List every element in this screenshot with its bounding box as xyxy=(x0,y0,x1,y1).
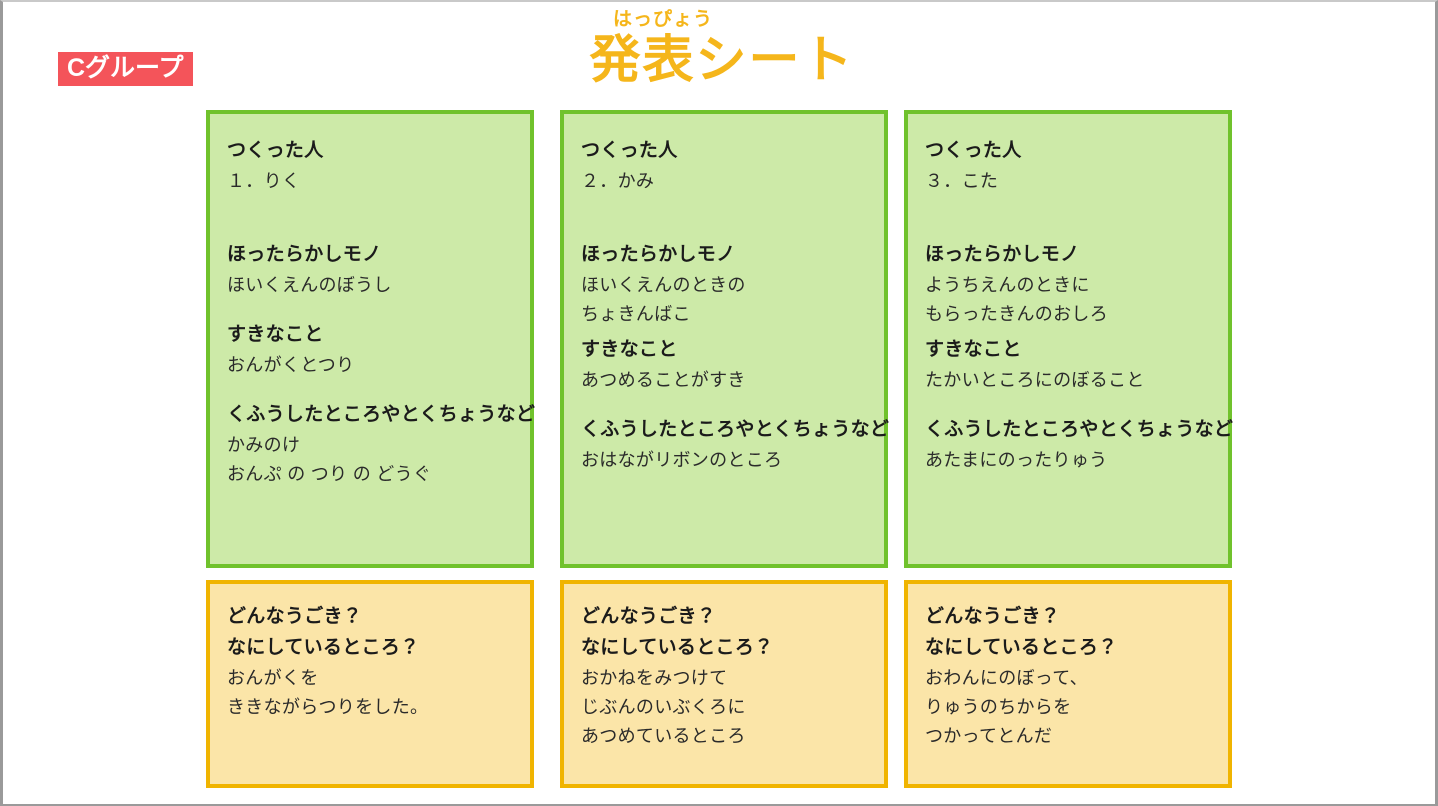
maker-label: つくった人 xyxy=(925,136,1211,167)
features-label: くふうしたところやとくちょうなど xyxy=(581,415,867,446)
motion-question-2: なにしているところ？ xyxy=(227,633,513,664)
item-label: ほったらかしモノ xyxy=(227,240,513,271)
maker-field: つくった人 ２．かみ xyxy=(581,136,867,196)
motion-card-1: どんなうごき？ なにしているところ？ おんがくを ききながらつりをした。 xyxy=(206,580,534,788)
spacer xyxy=(227,300,513,320)
motion-question-2: なにしているところ？ xyxy=(925,633,1211,664)
item-value: ほいくえんのときの ちょきんばこ xyxy=(581,271,867,329)
maker-label: つくった人 xyxy=(581,136,867,167)
title-text: 発表シート xyxy=(3,32,1438,87)
page-title: はっぴょう 発表シート xyxy=(3,10,1438,87)
motion-question-2: なにしているところ？ xyxy=(581,633,867,664)
profile-card-1: つくった人 １．りく ほったらかしモノ ほいくえんのぼうし すきなこと おんがく… xyxy=(206,110,534,568)
likes-value: たかいところにのぼること xyxy=(925,366,1211,395)
item-field: ほったらかしモノ ほいくえんのぼうし xyxy=(227,240,513,300)
maker-value: ３．こた xyxy=(925,167,1211,196)
likes-field: すきなこと たかいところにのぼること xyxy=(925,335,1211,395)
group-badge: Cグループ xyxy=(58,52,193,86)
spacer xyxy=(925,196,1211,240)
features-field: くふうしたところやとくちょうなど あたまにのったりゅう xyxy=(925,415,1211,475)
item-label: ほったらかしモノ xyxy=(581,240,867,271)
item-field: ほったらかしモノ ほいくえんのときの ちょきんばこ xyxy=(581,240,867,329)
maker-label: つくった人 xyxy=(227,136,513,167)
entry-column-3: つくった人 ３．こた ほったらかしモノ ようちえんのときに もらったきんのおしろ… xyxy=(904,110,1232,788)
features-label: くふうしたところやとくちょうなど xyxy=(227,400,513,431)
maker-value: １．りく xyxy=(227,167,513,196)
motion-card-2: どんなうごき？ なにしているところ？ おかねをみつけて じぶんのいぶくろに あつ… xyxy=(560,580,888,788)
motion-value: おかねをみつけて じぶんのいぶくろに あつめているところ xyxy=(581,664,867,751)
likes-field: すきなこと あつめることがすき xyxy=(581,335,867,395)
presentation-slide: Cグループ はっぴょう 発表シート つくった人 １．りく ほったらかしモノ ほい… xyxy=(0,0,1438,806)
features-value: あたまにのったりゅう xyxy=(925,446,1211,475)
likes-field: すきなこと おんがくとつり xyxy=(227,320,513,380)
likes-label: すきなこと xyxy=(581,335,867,366)
maker-value: ２．かみ xyxy=(581,167,867,196)
motion-question-1: どんなうごき？ xyxy=(227,602,513,633)
motion-question-1: どんなうごき？ xyxy=(581,602,867,633)
item-label: ほったらかしモノ xyxy=(925,240,1211,271)
profile-card-2: つくった人 ２．かみ ほったらかしモノ ほいくえんのときの ちょきんばこ すきな… xyxy=(560,110,888,568)
features-label: くふうしたところやとくちょうなど xyxy=(925,415,1211,446)
spacer xyxy=(227,380,513,400)
features-value: かみのけ おんぷ の つり の どうぐ xyxy=(227,431,513,489)
item-value: ようちえんのときに もらったきんのおしろ xyxy=(925,271,1211,329)
likes-label: すきなこと xyxy=(925,335,1211,366)
spacer xyxy=(581,395,867,415)
spacer xyxy=(581,196,867,240)
entry-column-1: つくった人 １．りく ほったらかしモノ ほいくえんのぼうし すきなこと おんがく… xyxy=(206,110,534,788)
motion-question-1: どんなうごき？ xyxy=(925,602,1211,633)
features-field: くふうしたところやとくちょうなど おはながリボンのところ xyxy=(581,415,867,475)
item-field: ほったらかしモノ ようちえんのときに もらったきんのおしろ xyxy=(925,240,1211,329)
maker-field: つくった人 ３．こた xyxy=(925,136,1211,196)
motion-card-3: どんなうごき？ なにしているところ？ おわんにのぼって、 りゅうのちからを つか… xyxy=(904,580,1232,788)
likes-label: すきなこと xyxy=(227,320,513,351)
features-value: おはながリボンのところ xyxy=(581,446,867,475)
spacer xyxy=(925,395,1211,415)
likes-value: あつめることがすき xyxy=(581,366,867,395)
spacer xyxy=(227,196,513,240)
maker-field: つくった人 １．りく xyxy=(227,136,513,196)
features-field: くふうしたところやとくちょうなど かみのけ おんぷ の つり の どうぐ xyxy=(227,400,513,489)
motion-value: おわんにのぼって、 りゅうのちからを つかってとんだ xyxy=(925,664,1211,751)
profile-card-3: つくった人 ３．こた ほったらかしモノ ようちえんのときに もらったきんのおしろ… xyxy=(904,110,1232,568)
title-furigana: はっぴょう xyxy=(0,10,1438,29)
motion-value: おんがくを ききながらつりをした。 xyxy=(227,664,513,722)
entry-column-2: つくった人 ２．かみ ほったらかしモノ ほいくえんのときの ちょきんばこ すきな… xyxy=(560,110,888,788)
likes-value: おんがくとつり xyxy=(227,351,513,380)
item-value: ほいくえんのぼうし xyxy=(227,271,513,300)
